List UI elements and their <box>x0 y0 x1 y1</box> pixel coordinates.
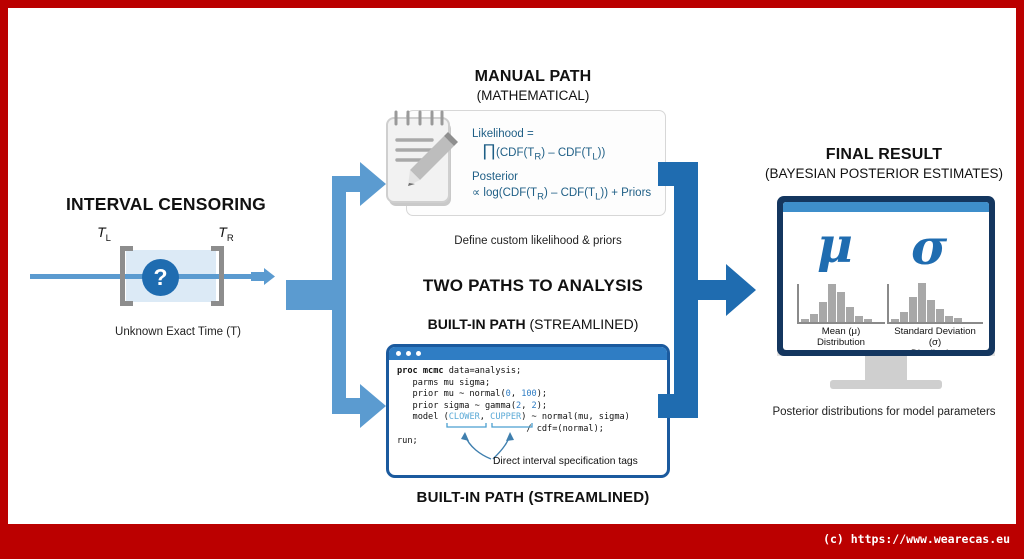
formula-seg-e: ) – CDF(T <box>544 187 595 199</box>
monitor-bezel: μ σ Mean (μ) Distribution <box>777 196 995 356</box>
t-left-label: TL <box>84 224 124 244</box>
formula-seg-b: ) – CDF(T <box>541 147 592 159</box>
builtin-path-title-bold: BUILT-IN PATH <box>428 316 526 332</box>
manual-path-subtitle: (MATHEMATICAL) <box>398 88 668 103</box>
question-mark-icon: ? <box>142 259 179 296</box>
formula-sub-r2: R <box>537 192 544 203</box>
histogram-sigma-bars <box>887 284 983 324</box>
final-result-caption: Posterior distributions for model parame… <box>748 406 1016 418</box>
builtin-path-title: BUILT-IN PATH (STREAMLINED) <box>388 316 678 332</box>
code-tag-cupper: CUPPER <box>490 412 521 422</box>
two-paths-title: TWO PATHS TO ANALYSIS <box>388 276 678 296</box>
likelihood-formula: Likelihood = ∏(CDF(TR) – CDF(TL)) Poster… <box>472 126 662 206</box>
builtin-path-title-rest: (STREAMLINED) <box>526 316 639 332</box>
formula-seg-a: (CDF(T <box>496 147 534 159</box>
histogram-mu-label: Mean (μ) Distribution <box>797 326 885 348</box>
final-result-title: FINAL RESULT <box>756 146 1012 164</box>
window-dot-red-icon[interactable] <box>396 351 401 356</box>
product-symbol: ∏ <box>482 141 496 160</box>
notepad-pencil-icon <box>382 108 466 214</box>
watermark-text: (c) https://www.wearecas.eu <box>823 532 1010 546</box>
manual-path-title: MANUAL PATH <box>398 68 668 86</box>
t-left-symbol: T <box>97 224 106 240</box>
t-right-label: TR <box>206 224 246 244</box>
watermark-bar: (c) https://www.wearecas.eu <box>0 524 1024 559</box>
window-dot-yellow-icon[interactable] <box>406 351 411 356</box>
code-tag-clower: CLOWER <box>449 412 480 422</box>
histogram-mu: Mean (μ) Distribution <box>797 284 885 348</box>
diagram-canvas: INTERVAL CENSORING TL TR ? Unknown Exact… <box>8 8 1016 524</box>
monitor-screen: μ σ Mean (μ) Distribution <box>783 202 989 350</box>
image-frame: INTERVAL CENSORING TL TR ? Unknown Exact… <box>0 0 1024 559</box>
formula-product-line: ∏(CDF(TR) – CDF(TL)) <box>482 143 662 165</box>
code-window-titlebar <box>389 347 667 360</box>
monitor-base <box>830 380 942 389</box>
t-right-subscript: R <box>227 233 234 244</box>
t-right-symbol: T <box>218 224 227 240</box>
bracket-right-icon <box>211 246 224 306</box>
interval-censoring-title: INTERVAL CENSORING <box>26 194 306 215</box>
callout-label: Direct interval specification tags <box>493 456 638 467</box>
interval-censoring-caption: Unknown Exact Time (T) <box>68 326 288 338</box>
formula-seg-f: )) + Priors <box>600 187 651 199</box>
histogram-sigma: Standard Deviation (σ) Distribution <box>887 284 983 350</box>
screen-topbar <box>783 202 989 212</box>
t-left-subscript: L <box>106 233 111 244</box>
histogram-mu-bars <box>797 284 885 324</box>
final-result-subtitle: (BAYESIAN POSTERIOR ESTIMATES) <box>748 166 1016 181</box>
formula-seg-c: )) <box>598 147 606 159</box>
window-dot-green-icon[interactable] <box>416 351 421 356</box>
mu-symbol: μ <box>817 216 853 274</box>
builtin-path-caption: BUILT-IN PATH (STREAMLINED) <box>388 489 678 506</box>
formula-posterior-expr: ∝ log(CDF(TR) – CDF(TL)) + Priors <box>472 185 662 205</box>
formula-likelihood-line: Likelihood = <box>472 126 662 142</box>
bracket-left-icon <box>120 246 133 306</box>
formula-seg-d: ∝ log(CDF(T <box>472 187 537 199</box>
merge-arrow-icon <box>658 150 770 440</box>
sigma-symbol: σ <box>911 218 947 276</box>
timeline-arrowhead-icon <box>251 268 275 285</box>
histogram-mu-label-line2: Distribution <box>797 337 885 348</box>
manual-path-caption: Define custom likelihood & priors <box>403 235 673 247</box>
histogram-sigma-label-line2: Distribution <box>887 348 983 350</box>
histogram-sigma-label-line1: Standard Deviation (σ) <box>887 326 983 348</box>
histogram-sigma-label: Standard Deviation (σ) Distribution <box>887 326 983 350</box>
code-window[interactable]: proc mcmc data=analysis; parms mu sigma;… <box>386 344 670 478</box>
histogram-mu-label-line1: Mean (μ) <box>797 326 885 337</box>
code-content[interactable]: proc mcmc data=analysis; parms mu sigma;… <box>389 360 667 447</box>
formula-posterior-line: Posterior <box>472 169 662 185</box>
monitor-neck <box>865 356 907 382</box>
